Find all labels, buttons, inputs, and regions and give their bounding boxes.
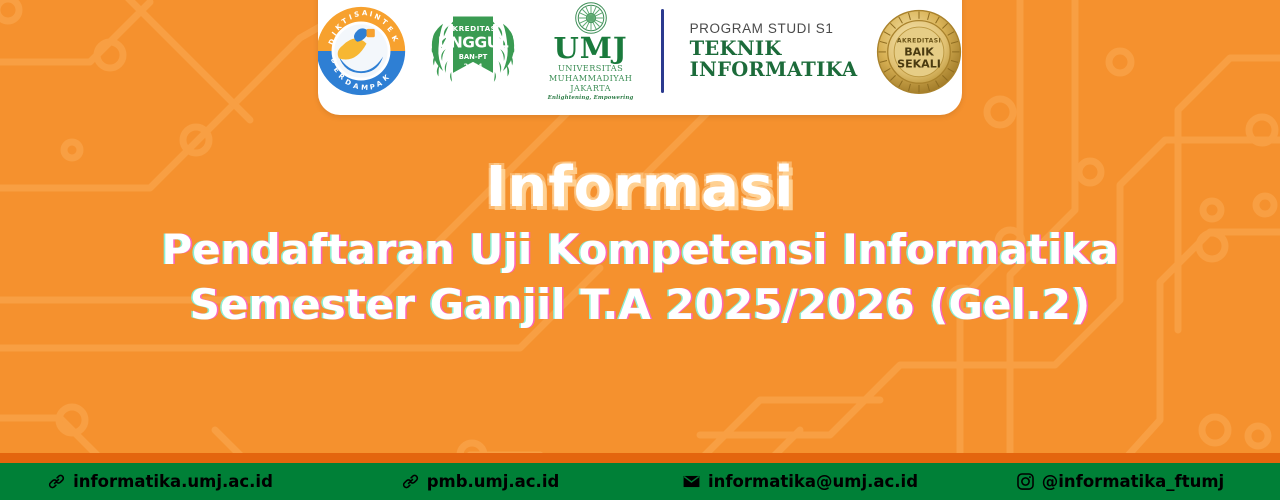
footer-item-instagram[interactable]: @informatika_ftumj [960, 472, 1280, 491]
umj-name-line2: MUHAMMADIYAH [549, 74, 632, 83]
svg-text:A: A [361, 9, 367, 17]
headline-title: Informasi [0, 160, 1280, 216]
logo-umj: UMJ UNIVERSITAS MUHAMMADIYAH JAKARTA Enl… [539, 1, 643, 101]
svg-text:UNGGUL: UNGGUL [437, 33, 508, 51]
promo-banner: D I K T I S A I N T E K B [0, 0, 1280, 500]
envelope-icon [682, 472, 701, 491]
program-studi-line2: TEKNIK [690, 38, 858, 60]
footer-item-email[interactable]: informatika@umj.ac.id [640, 472, 960, 491]
headline-block: Informasi Pendaftaran Uji Kompetensi Inf… [0, 160, 1280, 333]
footer-pmb-label: pmb.umj.ac.id [427, 472, 560, 491]
footer-website-label: informatika.umj.ac.id [73, 472, 273, 491]
logo-diktisaintek-berdampak: D I K T I S A I N T E K B [318, 1, 407, 101]
link-icon [47, 472, 66, 491]
logo-akreditasi-unggul: AKREDITASI UNGGUL BAN-PT 2024 [423, 1, 523, 101]
vertical-divider [661, 9, 664, 93]
program-studi-line1: PROGRAM STUDI S1 [690, 21, 858, 38]
diktisaintek-berdampak-icon: D I K T I S A I N T E K B [318, 5, 407, 97]
umj-acronym: UMJ [554, 34, 628, 63]
umj-tagline: Enlightening, Empowering [548, 95, 634, 101]
footer-instagram-label: @informatika_ftumj [1042, 472, 1224, 491]
headline-line-1: Pendaftaran Uji Kompetensi Informatika [0, 222, 1280, 277]
logo-akreditasi-baik-sekali: AKREDITASI BAIK SEKALI [873, 1, 962, 101]
umj-name-line1: UNIVERSITAS [558, 64, 623, 73]
svg-text:AKREDITASI: AKREDITASI [897, 38, 941, 45]
umj-sun-emblem-icon [574, 1, 608, 35]
logo-row: D I K T I S A I N T E K B [318, 0, 962, 115]
svg-text:BAN-PT: BAN-PT [458, 53, 487, 61]
logo-card: D I K T I S A I N T E K B [318, 0, 962, 115]
svg-text:2024: 2024 [463, 62, 482, 70]
link-icon [401, 472, 420, 491]
headline-line-2: Semester Ganjil T.A 2025/2026 (Gel.2) [0, 277, 1280, 332]
footer-contact-bar: informatika.umj.ac.id pmb.umj.ac.id info… [0, 463, 1280, 500]
footer-item-pmb[interactable]: pmb.umj.ac.id [320, 472, 640, 491]
umj-name-line3: JAKARTA [570, 84, 611, 93]
footer-email-label: informatika@umj.ac.id [708, 472, 918, 491]
svg-text:SEKALI: SEKALI [898, 58, 942, 71]
footer-accent-strip [0, 453, 1280, 463]
logo-program-studi: PROGRAM STUDI S1 TEKNIK INFORMATIKA [690, 1, 858, 101]
akreditasi-baik-sekali-seal-icon: AKREDITASI BAIK SEKALI [873, 5, 962, 97]
footer-item-website[interactable]: informatika.umj.ac.id [0, 472, 320, 491]
instagram-icon [1016, 472, 1035, 491]
svg-text:M: M [360, 84, 367, 92]
akreditasi-unggul-icon: AKREDITASI UNGGUL BAN-PT 2024 [423, 5, 523, 97]
svg-text:AKREDITASI: AKREDITASI [446, 24, 499, 33]
program-studi-line3: INFORMATIKA [690, 59, 858, 81]
